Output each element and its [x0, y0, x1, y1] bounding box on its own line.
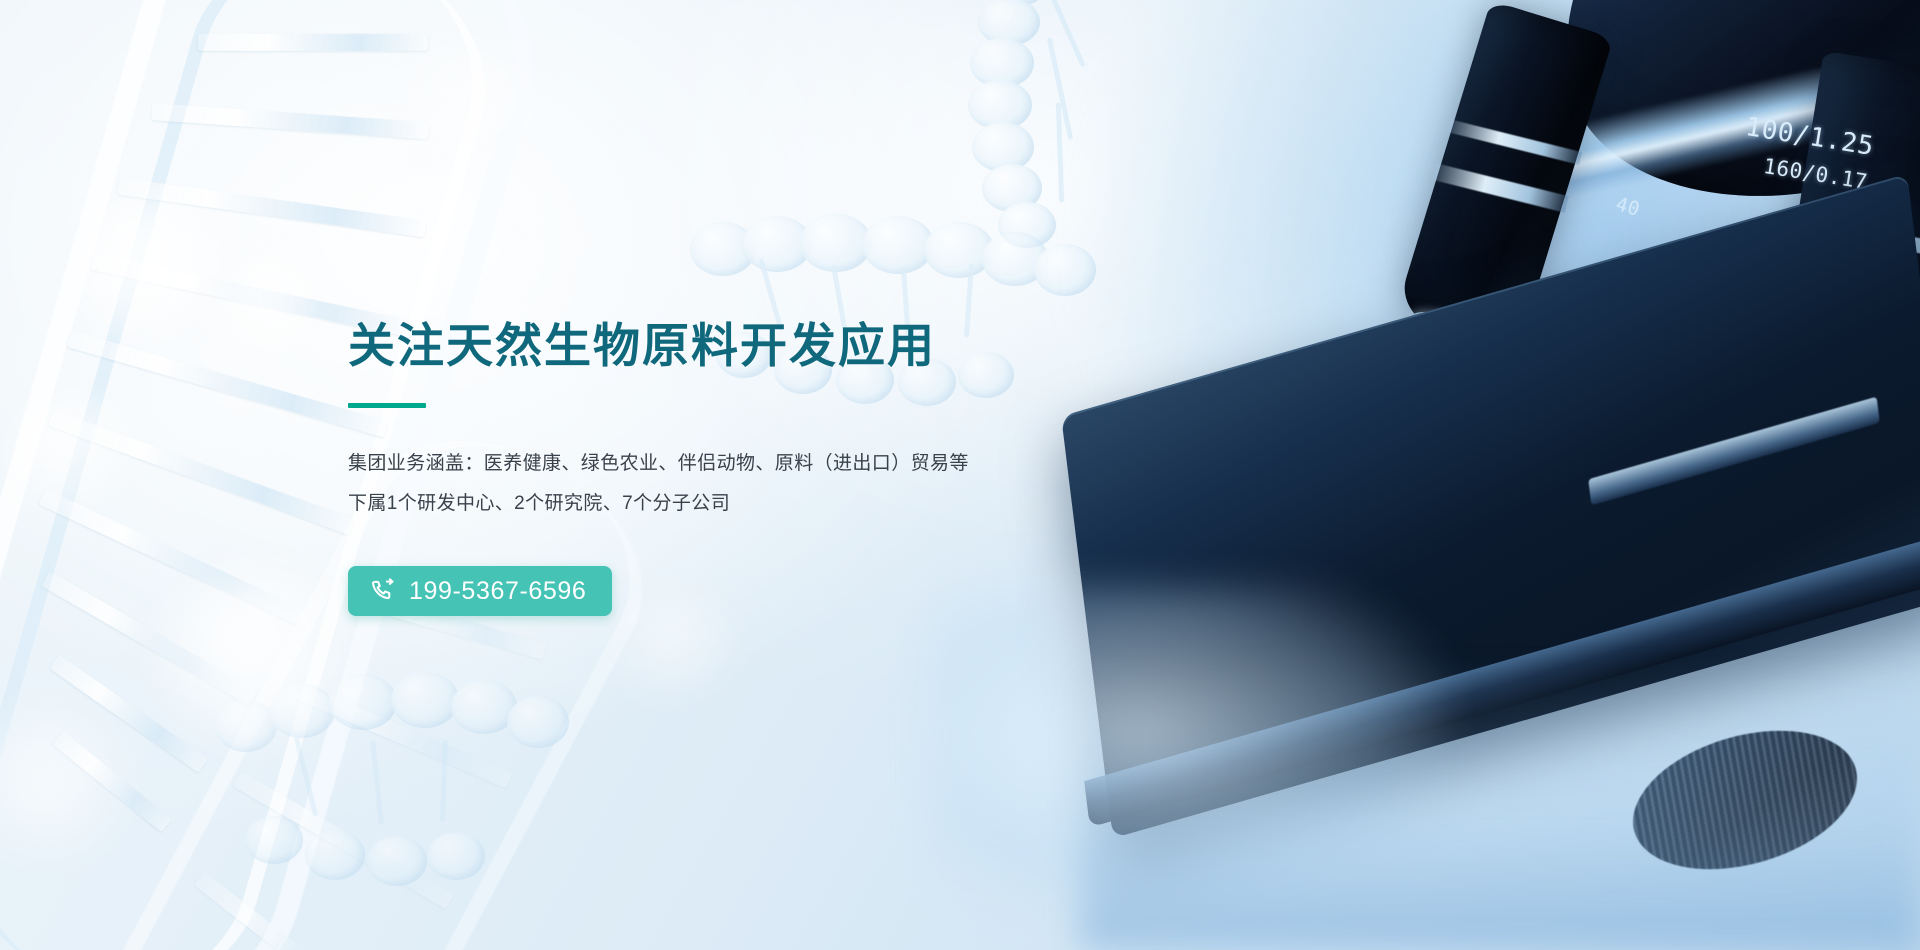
bokeh-light — [0, 700, 142, 880]
petri-dish-blur — [930, 586, 1450, 916]
objective-40-marking: 40 — [1614, 193, 1643, 221]
microscope-focus-knob — [1617, 707, 1873, 893]
microscope-arm — [1727, 221, 1886, 375]
hero-content: 关注天然生物原料开发应用 集团业务涵盖：医养健康、绿色农业、伴侣动物、原料（进出… — [348, 318, 1068, 616]
page-title: 关注天然生物原料开发应用 — [348, 318, 1068, 373]
phone-forward-icon — [370, 578, 396, 604]
microscope-glow — [1080, 0, 1920, 660]
bokeh-light — [162, 568, 358, 754]
bokeh-light — [218, 252, 330, 364]
microscope-lens-tip — [1407, 304, 1497, 354]
objective-100-marking: 100 — [1797, 219, 1836, 246]
dna-bead-chain-lower-icon — [215, 640, 635, 950]
bokeh-light — [8, 392, 136, 520]
bokeh-light — [400, 40, 550, 180]
phone-contact-button[interactable]: 199-5367-6596 — [348, 566, 612, 616]
microscope-slide-clip — [1588, 397, 1880, 506]
microscope-objective-100x — [1758, 51, 1920, 493]
phone-number-label: 199-5367-6596 — [409, 579, 586, 604]
microscope-stage — [1061, 174, 1920, 839]
objective-tube-marking: 160/0.17 — [1762, 154, 1870, 194]
hero-banner: 40 100/1.25 160/0.17 100 关注天然生物原料开发应用 集团… — [0, 0, 1920, 950]
objective-na-marking: 100/1.25 — [1743, 112, 1875, 162]
hero-description: 集团业务涵盖：医养健康、绿色农业、伴侣动物、原料（进出口）贸易等 下属1个研发中… — [348, 444, 1068, 524]
microscope-stage-edge — [1084, 539, 1920, 828]
description-line-2: 下属1个研发中心、2个研究院、7个分子公司 — [348, 484, 1068, 524]
microscope-nosepiece-ring — [1475, 49, 1911, 218]
surface-reflection — [1080, 660, 1920, 950]
microscope-nosepiece — [1528, 0, 1920, 237]
bokeh-light — [78, 196, 228, 346]
microscope-icon: 40 100/1.25 160/0.17 100 — [1080, 0, 1920, 950]
title-divider — [348, 403, 426, 408]
description-line-1: 集团业务涵盖：医养健康、绿色农业、伴侣动物、原料（进出口）贸易等 — [348, 444, 1068, 484]
microscope-objective-40x — [1395, 0, 1614, 353]
